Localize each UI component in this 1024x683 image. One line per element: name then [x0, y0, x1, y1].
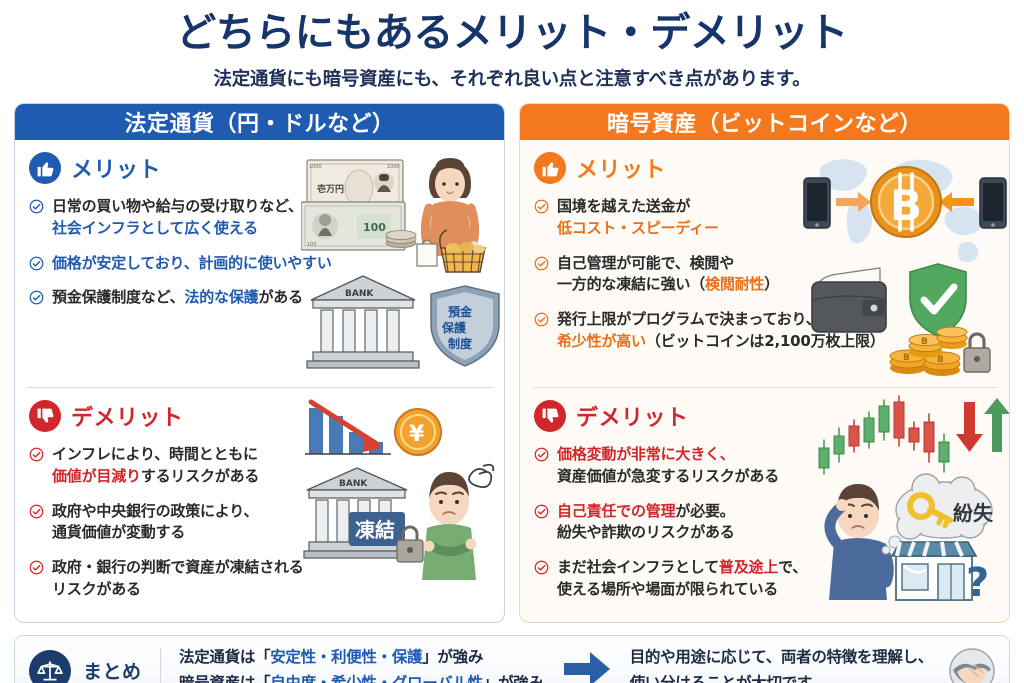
summary-divider: [160, 648, 162, 683]
handshake-icon: [949, 648, 995, 683]
check-circle-icon: [29, 447, 44, 462]
panel-crypto: 暗号資産（ビットコインなど）: [519, 103, 1010, 623]
list-item: 国境を越えた送金が 低コスト・スピーディー: [534, 196, 995, 240]
summary-left-line1: 法定通貨は「安定性・利便性・保護」が強み: [179, 645, 544, 670]
list-item: 自己管理が可能で、検閲や 一方的な凍結に強い（検閲耐性）: [534, 253, 995, 297]
crypto-merit-list: 国境を越えた送金が 低コスト・スピーディー 自己管理が可能で、検閲や 一方的な凍…: [534, 196, 995, 353]
list-item-line1: 政府や中央銀行の政策により、: [52, 502, 258, 520]
list-item-post: が必要。: [675, 502, 734, 520]
list-item-line2: 紛失や詐欺のリスクがある: [557, 523, 735, 541]
list-item: 預金保護制度など、法的な保護がある: [29, 287, 490, 309]
list-item-line1: まだ社会インフラとして: [557, 558, 719, 576]
crypto-demerit-section: 紛失 ?: [520, 388, 1009, 622]
list-item: インフレにより、時間とともに 価値が目減りするリスクがある: [29, 444, 490, 488]
summary-right-line1: 目的や用途に応じて、両者の特徴を理解し、: [630, 645, 933, 670]
summary-right-line2: 使い分けることが大切です。: [630, 671, 933, 683]
panel-fiat: 法定通貨（円・ドルなど） 壱万円 1000 1000: [14, 103, 505, 623]
page-title: どちらにもあるメリット・デメリット: [0, 0, 1024, 56]
check-circle-icon: [534, 447, 549, 462]
thumbs-down-icon: [534, 400, 566, 432]
list-item: まだ社会インフラとして普及途上で、 使える場所や場面が限られている: [534, 557, 995, 601]
list-item-highlight: 価格変動が非常に大きく、: [557, 445, 735, 463]
check-circle-icon: [534, 504, 549, 519]
list-item-line2: 資産価値が急変するリスクがある: [557, 467, 779, 485]
fiat-demerit-list: インフレにより、時間とともに 価値が目減りするリスクがある 政府や中央銀行の政策…: [29, 444, 490, 601]
list-item-line1: 発行上限がプログラムで決まっており、: [557, 310, 821, 328]
list-item-pre: 預金保護制度など、: [52, 288, 184, 306]
list-item: 政府や中央銀行の政策により、 通貨価値が変動する: [29, 501, 490, 545]
comparison-panels: 法定通貨（円・ドルなど） 壱万円 1000 1000: [0, 91, 1024, 623]
page-subtitle: 法定通貨にも暗号資産にも、それぞれ良い点と注意すべき点があります。: [0, 65, 1024, 91]
summary-l1-post: 」が強み: [422, 648, 483, 666]
list-item-line1: 自己管理が可能で、検閲や: [557, 254, 734, 272]
thumbs-up-icon: [534, 152, 566, 184]
summary-right-text: 目的や用途に応じて、両者の特徴を理解し、 使い分けることが大切です。: [630, 645, 933, 683]
list-item-line2: 使える場所や場面が限られている: [557, 580, 778, 598]
arrow-right-icon: [564, 652, 610, 683]
list-item-pre: 一方的な凍結に強い（: [557, 275, 705, 293]
check-circle-icon: [534, 256, 549, 271]
scales-icon: [29, 650, 71, 683]
list-item-highlight: 自己責任での管理: [557, 502, 675, 520]
summary-bar: まとめ 法定通貨は「安定性・利便性・保護」が強み 暗号資産は「自由度・希少性・グ…: [14, 635, 1010, 683]
svg-text:B: B: [903, 353, 910, 363]
svg-text:1000: 1000: [309, 164, 322, 170]
list-item-highlight: 希少性が高い: [557, 332, 646, 350]
panel-fiat-header: 法定通貨（円・ドルなど）: [15, 104, 504, 140]
check-circle-icon: [29, 256, 44, 271]
summary-l1-pre: 法定通貨は「: [179, 648, 270, 666]
infographic-page: どちらにもあるメリット・デメリット 法定通貨にも暗号資産にも、それぞれ良い点と注…: [0, 0, 1024, 683]
list-item-line2-post: 広く使える: [184, 219, 258, 237]
list-item-post: で、: [778, 558, 807, 576]
check-circle-icon: [534, 560, 549, 575]
list-item: 価格が安定しており、計画的に使いやすい: [29, 253, 490, 275]
svg-text:保護: 保護: [441, 320, 467, 335]
svg-text:B: B: [937, 355, 944, 365]
thumbs-up-icon: [29, 152, 61, 184]
list-item: 価格変動が非常に大きく、 資産価値が急変するリスクがある: [534, 444, 995, 488]
list-item: 発行上限がプログラムで決まっており、 希少性が高い（ビットコインは2,100万枚…: [534, 309, 995, 353]
list-item: 日常の買い物や給与の受け取りなど、 社会インフラとして広く使える: [29, 196, 490, 240]
crypto-merit-section: B: [520, 140, 1009, 387]
fiat-merit-list: 日常の買い物や給与の受け取りなど、 社会インフラとして広く使える 価格が安定して…: [29, 196, 490, 309]
list-item-highlight: 普及途上: [719, 558, 778, 576]
summary-l1-highlight: 安定性・利便性・保護: [270, 648, 422, 666]
check-circle-icon: [29, 560, 44, 575]
summary-l2-post: 」が強み: [483, 674, 544, 683]
list-item-post: （ビットコインは2,100万枚上限）: [646, 332, 885, 350]
list-item: 自己責任での管理が必要。 紛失や詐欺のリスクがある: [534, 501, 995, 545]
list-item-highlight: 法的な保護: [184, 288, 258, 306]
check-circle-icon: [29, 290, 44, 305]
svg-text:壱万円: 壱万円: [317, 183, 344, 195]
svg-text:1000: 1000: [387, 164, 400, 170]
check-circle-icon: [29, 504, 44, 519]
list-item-line1: インフレにより、時間とともに: [52, 445, 258, 463]
list-item-line2: 通貨価値が変動する: [52, 523, 185, 541]
check-circle-icon: [534, 312, 549, 327]
list-item-highlight: 低コスト・スピーディー: [557, 219, 719, 237]
list-item-post: するリスクがある: [141, 467, 259, 485]
crypto-demerit-list: 価格変動が非常に大きく、 資産価値が急変するリスクがある 自己責任での管理が必要…: [534, 444, 995, 601]
list-item-highlight: 価格が安定しており、計画的に使いやすい: [52, 254, 332, 272]
fiat-merit-section: 壱万円 1000 1000 100 100: [15, 140, 504, 387]
list-item-highlight: 価値が目減り: [52, 467, 141, 485]
crypto-demerit-title: デメリット: [576, 400, 689, 432]
check-circle-icon: [534, 199, 549, 214]
thumbs-down-icon: [29, 400, 61, 432]
list-item-highlight: 社会インフラとして: [52, 219, 184, 237]
list-item: 政府・銀行の判断で資産が凍結される リスクがある: [29, 557, 490, 601]
summary-label: まとめ: [83, 657, 142, 683]
list-item-post: ）: [764, 275, 779, 293]
list-item-post: がある: [258, 288, 302, 306]
summary-l2-highlight: 自由度・希少性・グローバル性: [270, 674, 483, 683]
summary-left-text: 法定通貨は「安定性・利便性・保護」が強み 暗号資産は「自由度・希少性・グローバル…: [179, 645, 544, 683]
crypto-merit-title: メリット: [576, 152, 666, 184]
list-item-line1: 日常の買い物や給与の受け取りなど、: [52, 197, 303, 215]
list-item-highlight: 検閲耐性: [705, 275, 764, 293]
list-item-line2: リスクがある: [52, 580, 141, 598]
summary-left-line2: 暗号資産は「自由度・希少性・グローバル性」が強み: [179, 671, 544, 683]
fiat-merit-title: メリット: [71, 152, 161, 184]
panel-crypto-header: 暗号資産（ビットコインなど）: [520, 104, 1009, 140]
fiat-demerit-title: デメリット: [71, 400, 184, 432]
list-item-line1: 政府・銀行の判断で資産が凍結される: [52, 558, 304, 576]
summary-l2-pre: 暗号資産は「: [179, 674, 270, 683]
list-item-line1: 国境を越えた送金が: [557, 197, 690, 215]
check-circle-icon: [29, 199, 44, 214]
svg-text:制度: 制度: [448, 336, 473, 351]
fiat-demerit-section: ¥ BANK 凍結: [15, 388, 504, 622]
